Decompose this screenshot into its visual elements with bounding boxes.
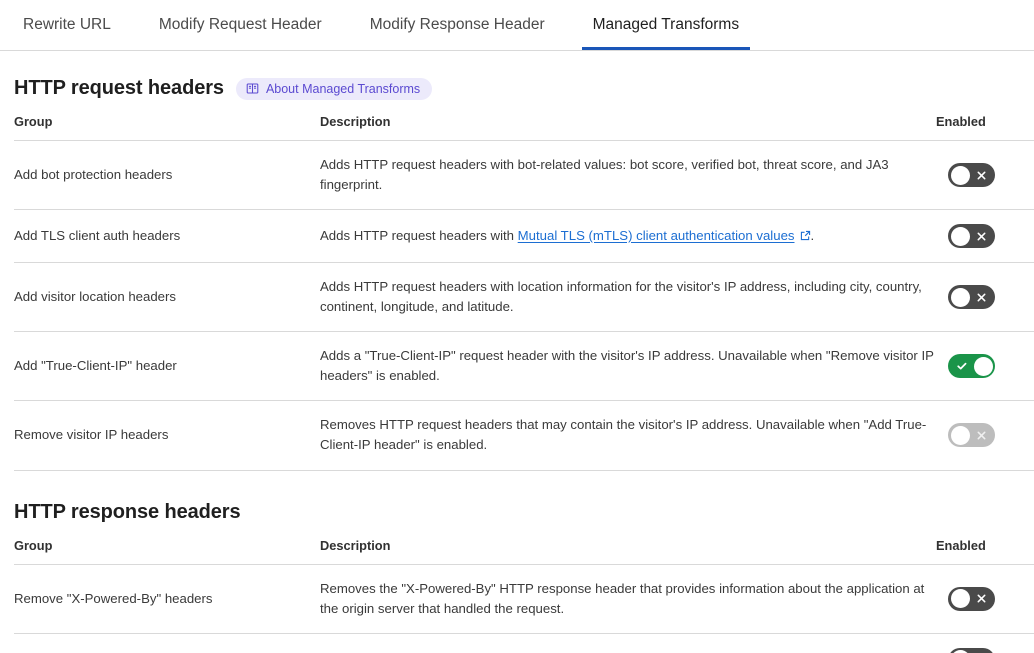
table-row: Add visitor location headers Adds HTTP r… — [14, 263, 1034, 332]
close-icon — [976, 285, 987, 309]
toggle-knob — [951, 288, 970, 307]
toggle-knob — [951, 227, 970, 246]
toggle-knob — [951, 166, 970, 185]
table-row: Remove visitor IP headers Removes HTTP r… — [14, 401, 1034, 470]
tab-managed-transforms[interactable]: Managed Transforms — [593, 0, 739, 49]
column-header-group: Group — [14, 114, 320, 141]
row-description: Adds HTTP request headers with bot-relat… — [320, 141, 936, 210]
description-text-post: . — [811, 228, 815, 243]
toggle-knob — [951, 426, 970, 445]
row-group-label: Add bot protection headers — [14, 141, 320, 210]
tab-modify-request-header[interactable]: Modify Request Header — [159, 0, 322, 49]
toggle-knob — [951, 589, 970, 608]
tab-bar: Rewrite URL Modify Request Header Modify… — [0, 0, 1034, 51]
table-row: Remove "X-Powered-By" headers Removes th… — [14, 564, 1034, 633]
section-header: HTTP request headers About Managed Trans… — [14, 77, 1029, 100]
column-header-enabled: Enabled — [936, 114, 1034, 141]
row-enabled-cell — [936, 633, 1034, 653]
row-description: Removes the "X-Powered-By" HTTP response… — [320, 564, 936, 633]
row-enabled-cell — [936, 210, 1034, 263]
section-http-request-headers: HTTP request headers About Managed Trans… — [14, 77, 1029, 471]
column-header-group: Group — [14, 538, 320, 565]
toggle-remove-x-powered-by-headers[interactable] — [948, 587, 995, 611]
row-description: Adds a "True-Client-IP" request header w… — [320, 332, 936, 401]
close-icon — [976, 423, 987, 447]
toggle-add-security-headers[interactable] — [948, 648, 995, 653]
row-enabled-cell — [936, 141, 1034, 210]
page-title: HTTP response headers — [14, 501, 241, 524]
tab-modify-response-header[interactable]: Modify Response Header — [370, 0, 545, 49]
close-icon — [976, 224, 987, 248]
row-description: Adds HTTP request headers with Mutual TL… — [320, 210, 936, 263]
table-header-row: Group Description Enabled — [14, 114, 1034, 141]
mutual-tls-doc-link[interactable]: Mutual TLS (mTLS) client authentication … — [518, 228, 795, 243]
table-header-row: Group Description Enabled — [14, 538, 1034, 565]
managed-transforms-request-table: Group Description Enabled Add bot protec… — [14, 114, 1034, 471]
table-row: Add security headers Adds several securi… — [14, 633, 1034, 653]
toggle-remove-visitor-ip-headers — [948, 423, 995, 447]
page-title: HTTP request headers — [14, 77, 224, 100]
toggle-knob — [974, 357, 993, 376]
tab-rewrite-url[interactable]: Rewrite URL — [23, 0, 111, 49]
page-content: HTTP request headers About Managed Trans… — [0, 77, 1034, 653]
row-enabled-cell — [936, 401, 1034, 470]
badge-label: About Managed Transforms — [266, 82, 420, 96]
row-enabled-cell — [936, 332, 1034, 401]
managed-transforms-response-table: Group Description Enabled Remove "X-Powe… — [14, 538, 1034, 653]
row-enabled-cell — [936, 564, 1034, 633]
close-icon — [976, 163, 987, 187]
toggle-add-visitor-location-headers[interactable] — [948, 285, 995, 309]
row-group-label: Remove visitor IP headers — [14, 401, 320, 470]
section-http-response-headers: HTTP response headers Group Description … — [14, 501, 1029, 653]
column-header-description: Description — [320, 114, 936, 141]
toggle-add-tls-client-auth-headers[interactable] — [948, 224, 995, 248]
row-description: Removes HTTP request headers that may co… — [320, 401, 936, 470]
column-header-enabled: Enabled — [936, 538, 1034, 565]
close-icon — [976, 648, 987, 653]
table-row: Add TLS client auth headers Adds HTTP re… — [14, 210, 1034, 263]
description-text-pre: Adds HTTP request headers with — [320, 228, 518, 243]
row-enabled-cell — [936, 263, 1034, 332]
row-group-label: Add "True-Client-IP" header — [14, 332, 320, 401]
table-row: Add "True-Client-IP" header Adds a "True… — [14, 332, 1034, 401]
row-description: Adds several security-related HTTP respo… — [320, 633, 936, 653]
row-group-label: Add visitor location headers — [14, 263, 320, 332]
check-icon — [956, 354, 968, 378]
column-header-description: Description — [320, 538, 936, 565]
book-icon — [246, 82, 259, 95]
row-group-label: Remove "X-Powered-By" headers — [14, 564, 320, 633]
about-managed-transforms-badge[interactable]: About Managed Transforms — [236, 78, 432, 100]
toggle-add-true-client-ip-header[interactable] — [948, 354, 995, 378]
external-link-icon — [800, 227, 811, 247]
close-icon — [976, 587, 987, 611]
row-group-label: Add TLS client auth headers — [14, 210, 320, 263]
link-label: Mutual TLS (mTLS) client authentication … — [518, 228, 795, 243]
toggle-add-bot-protection-headers[interactable] — [948, 163, 995, 187]
section-header: HTTP response headers — [14, 501, 1029, 524]
table-row: Add bot protection headers Adds HTTP req… — [14, 141, 1034, 210]
row-description: Adds HTTP request headers with location … — [320, 263, 936, 332]
row-group-label: Add security headers — [14, 633, 320, 653]
